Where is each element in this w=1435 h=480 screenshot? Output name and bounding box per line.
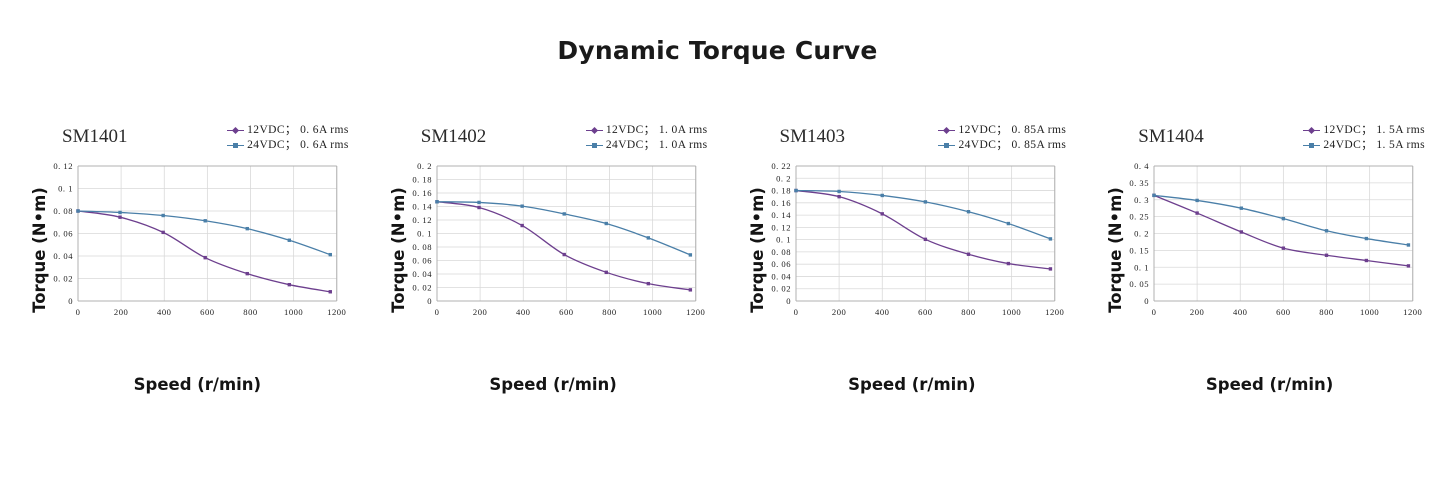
legend-label: 12VDC； 1. 0A rms: [606, 123, 708, 138]
x-tick-label: 600: [559, 307, 573, 317]
data-point-marker: [204, 256, 207, 259]
chart-title: SM1404: [1138, 126, 1203, 148]
y-tick-label: 0. 06: [771, 259, 791, 269]
y-tick-label: 0. 1: [58, 184, 73, 194]
legend-item: 12VDC； 0. 85A rms: [938, 123, 1066, 138]
x-tick-label: 1000: [284, 307, 303, 317]
y-tick-label: 0. 12: [53, 161, 73, 171]
y-tick-label: 0. 22: [771, 161, 791, 171]
data-point-marker: [1282, 217, 1285, 220]
data-point-marker: [966, 210, 969, 213]
y-tick-label: 0. 2: [776, 173, 791, 183]
x-tick-label: 600: [918, 307, 932, 317]
y-tick-label: 0. 05: [1130, 279, 1150, 289]
x-tick-label: 400: [516, 307, 530, 317]
data-point-marker: [1365, 237, 1368, 240]
data-point-marker: [880, 194, 883, 197]
data-point-marker: [1365, 259, 1368, 262]
x-tick-label: 400: [157, 307, 171, 317]
data-point-marker: [1325, 229, 1328, 232]
y-tick-label: 0. 04: [412, 269, 432, 279]
x-tick-label: 0: [1152, 307, 1157, 317]
chart-panel-sm1403: SM140312VDC； 0. 85A rms24VDC； 0. 85A rms…: [718, 110, 1077, 400]
x-tick-label: 0: [793, 307, 798, 317]
data-point-marker: [477, 206, 480, 209]
y-tick-label: 0. 1: [417, 229, 432, 239]
y-tick-label: 0. 25: [1130, 212, 1150, 222]
data-point-marker: [161, 214, 164, 217]
legend-line-marker-icon: [938, 140, 955, 152]
data-point-marker: [562, 253, 565, 256]
data-point-marker: [1048, 267, 1051, 270]
data-point-marker: [604, 271, 607, 274]
y-tick-label: 0. 14: [771, 210, 791, 220]
series-line-24vdc: [78, 211, 330, 255]
x-tick-label: 800: [602, 307, 616, 317]
plot-area: 00. 020. 040. 060. 080. 10. 120. 140. 16…: [718, 156, 1077, 356]
x-tick-label: 800: [1320, 307, 1334, 317]
x-axis-title: Speed (r/min): [0, 375, 359, 394]
chart-panel-sm1401: SM140112VDC； 0. 6A rms24VDC； 0. 6A rmsTo…: [0, 110, 359, 400]
plot-area: 00. 020. 040. 060. 080. 10. 120. 140. 16…: [359, 156, 718, 356]
x-axis-title: Speed (r/min): [1076, 375, 1435, 394]
y-tick-label: 0. 2: [417, 161, 432, 171]
chart-title: SM1402: [421, 126, 486, 148]
legend-item: 12VDC； 1. 0A rms: [586, 123, 708, 138]
data-point-marker: [477, 201, 480, 204]
plot-area: 00. 020. 040. 060. 080. 10. 120200400600…: [0, 156, 359, 356]
x-tick-label: 1000: [1002, 307, 1021, 317]
data-point-marker: [1407, 243, 1410, 246]
legend-line-marker-icon: [227, 125, 244, 137]
legend-label: 24VDC； 1. 5A rms: [1323, 138, 1425, 153]
legend-label: 24VDC； 1. 0A rms: [606, 138, 708, 153]
data-point-marker: [966, 253, 969, 256]
x-tick-label: 600: [1276, 307, 1290, 317]
y-tick-label: 0: [427, 296, 432, 306]
legend-label: 24VDC； 0. 6A rms: [247, 138, 349, 153]
y-tick-label: 0. 14: [412, 202, 432, 212]
y-tick-label: 0. 12: [412, 215, 432, 225]
x-tick-label: 1000: [643, 307, 662, 317]
y-tick-label: 0: [1144, 296, 1149, 306]
y-tick-label: 0. 08: [53, 206, 73, 216]
data-point-marker: [837, 190, 840, 193]
legend-item: 24VDC； 1. 5A rms: [1303, 138, 1425, 153]
chart-panel-sm1402: SM140212VDC； 1. 0A rms24VDC； 1. 0A rmsTo…: [359, 110, 718, 400]
data-point-marker: [1407, 264, 1410, 267]
y-tick-label: 0. 15: [1130, 245, 1150, 255]
x-axis-title: Speed (r/min): [359, 375, 718, 394]
legend-line-marker-icon: [586, 140, 603, 152]
y-tick-label: 0. 12: [771, 222, 791, 232]
data-point-marker: [794, 189, 797, 192]
y-tick-label: 0. 16: [771, 198, 791, 208]
data-point-marker: [329, 253, 332, 256]
series-line-12vdc: [1154, 195, 1408, 266]
data-point-marker: [520, 204, 523, 207]
y-tick-label: 0. 1: [776, 235, 791, 245]
x-tick-label: 200: [473, 307, 487, 317]
data-point-marker: [204, 219, 207, 222]
data-point-marker: [923, 238, 926, 241]
data-point-marker: [435, 200, 438, 203]
data-point-marker: [688, 288, 691, 291]
data-point-marker: [1048, 237, 1051, 240]
data-point-marker: [923, 200, 926, 203]
data-point-marker: [1325, 254, 1328, 257]
data-point-marker: [1196, 211, 1199, 214]
legend-item: 24VDC； 0. 6A rms: [227, 138, 349, 153]
data-point-marker: [246, 272, 249, 275]
data-point-marker: [880, 212, 883, 215]
data-point-marker: [1006, 222, 1009, 225]
y-tick-label: 0. 4: [1134, 161, 1149, 171]
data-point-marker: [288, 239, 291, 242]
data-point-marker: [161, 231, 164, 234]
x-tick-label: 1200: [1045, 307, 1064, 317]
y-tick-label: 0. 02: [412, 283, 432, 293]
data-point-marker: [520, 224, 523, 227]
y-tick-label: 0. 16: [412, 188, 432, 198]
x-tick-label: 800: [961, 307, 975, 317]
data-point-marker: [562, 212, 565, 215]
page-title: Dynamic Torque Curve: [0, 36, 1435, 65]
y-tick-label: 0. 02: [771, 284, 791, 294]
x-tick-label: 1200: [1403, 307, 1422, 317]
data-point-marker: [1196, 199, 1199, 202]
x-tick-label: 1000: [1360, 307, 1379, 317]
y-tick-label: 0. 3: [1134, 195, 1149, 205]
x-tick-label: 200: [114, 307, 128, 317]
data-point-marker: [688, 253, 691, 256]
chart-panel-sm1404: SM140412VDC； 1. 5A rms24VDC； 1. 5A rmsTo…: [1076, 110, 1435, 400]
y-tick-label: 0. 18: [412, 175, 432, 185]
x-tick-label: 200: [1190, 307, 1204, 317]
data-point-marker: [604, 222, 607, 225]
data-point-marker: [1282, 246, 1285, 249]
legend-line-marker-icon: [938, 125, 955, 137]
x-tick-label: 1200: [327, 307, 346, 317]
y-tick-label: 0: [68, 296, 73, 306]
legend-line-marker-icon: [1303, 140, 1320, 152]
data-point-marker: [1240, 230, 1243, 233]
x-tick-label: 0: [76, 307, 81, 317]
data-point-marker: [288, 283, 291, 286]
y-tick-label: 0. 35: [1130, 178, 1150, 188]
legend-line-marker-icon: [1303, 125, 1320, 137]
series-line-12vdc: [78, 211, 330, 292]
x-tick-label: 400: [875, 307, 889, 317]
data-point-marker: [646, 282, 649, 285]
legend-item: 24VDC； 1. 0A rms: [586, 138, 708, 153]
legend-item: 12VDC； 1. 5A rms: [1303, 123, 1425, 138]
legend-item: 12VDC； 0. 6A rms: [227, 123, 349, 138]
y-tick-label: 0: [786, 296, 791, 306]
chart-panel-group: SM140112VDC； 0. 6A rms24VDC； 0. 6A rmsTo…: [0, 110, 1435, 400]
x-tick-label: 800: [243, 307, 257, 317]
data-point-marker: [329, 290, 332, 293]
legend-label: 12VDC； 1. 5A rms: [1323, 123, 1425, 138]
chart-legend: 12VDC； 0. 85A rms24VDC； 0. 85A rms: [938, 123, 1066, 153]
chart-legend: 12VDC； 1. 0A rms24VDC； 1. 0A rms: [586, 123, 708, 153]
legend-item: 24VDC； 0. 85A rms: [938, 138, 1066, 153]
legend-label: 12VDC； 0. 6A rms: [247, 123, 349, 138]
data-point-marker: [76, 209, 79, 212]
y-tick-label: 0. 04: [53, 251, 73, 261]
series-line-12vdc: [796, 191, 1050, 269]
legend-label: 12VDC； 0. 85A rms: [958, 123, 1066, 138]
y-tick-label: 0. 2: [1134, 229, 1149, 239]
data-point-marker: [1006, 262, 1009, 265]
y-tick-label: 0. 04: [771, 271, 791, 281]
x-tick-label: 200: [831, 307, 845, 317]
series-line-24vdc: [1154, 195, 1408, 245]
data-point-marker: [1153, 194, 1156, 197]
data-point-marker: [118, 215, 121, 218]
legend-line-marker-icon: [586, 125, 603, 137]
data-point-marker: [1240, 206, 1243, 209]
data-point-marker: [837, 195, 840, 198]
data-point-marker: [118, 211, 121, 214]
chart-legend: 12VDC； 0. 6A rms24VDC； 0. 6A rms: [227, 123, 349, 153]
y-tick-label: 0. 06: [53, 229, 73, 239]
y-tick-label: 0. 08: [771, 247, 791, 257]
data-point-marker: [246, 227, 249, 230]
y-tick-label: 0. 06: [412, 256, 432, 266]
legend-line-marker-icon: [227, 140, 244, 152]
x-axis-title: Speed (r/min): [718, 375, 1077, 394]
x-tick-label: 400: [1233, 307, 1247, 317]
x-tick-label: 600: [200, 307, 214, 317]
chart-title: SM1403: [780, 126, 845, 148]
legend-label: 24VDC； 0. 85A rms: [958, 138, 1066, 153]
data-point-marker: [646, 236, 649, 239]
chart-legend: 12VDC； 1. 5A rms24VDC； 1. 5A rms: [1303, 123, 1425, 153]
y-tick-label: 0. 08: [412, 242, 432, 252]
chart-title: SM1401: [62, 126, 127, 148]
y-tick-label: 0. 18: [771, 186, 791, 196]
y-tick-label: 0. 02: [53, 274, 73, 284]
y-tick-label: 0. 1: [1134, 262, 1149, 272]
plot-area: 00. 050. 10. 150. 20. 250. 30. 350. 4020…: [1076, 156, 1435, 356]
x-tick-label: 0: [434, 307, 439, 317]
x-tick-label: 1200: [686, 307, 705, 317]
